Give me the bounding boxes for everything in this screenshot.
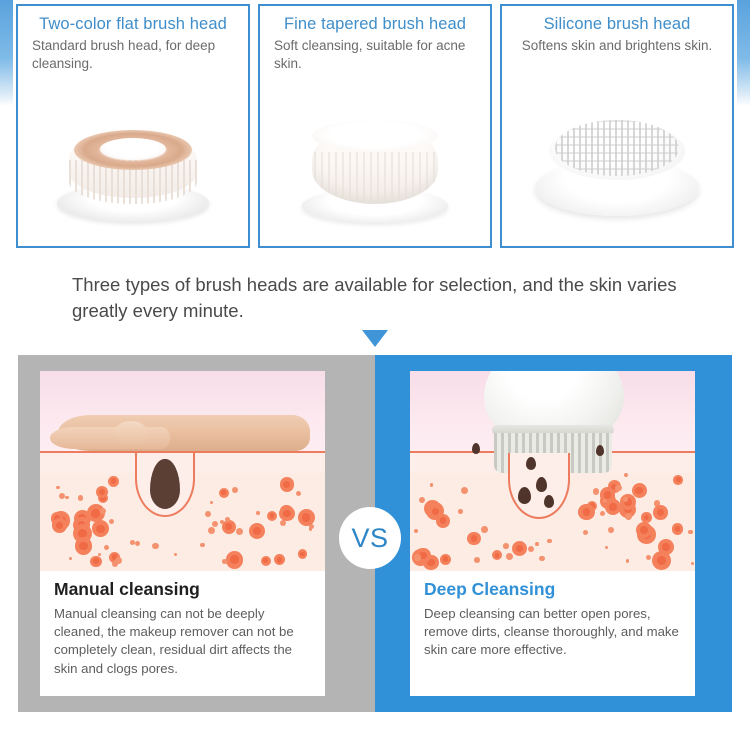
skin-cell — [414, 554, 420, 560]
skin-cell — [174, 553, 177, 556]
skin-cell — [309, 527, 313, 531]
deep-cleansing-body: Deep cleansing can better open pores, re… — [424, 605, 683, 660]
two-color-flat-brush-head-photo — [18, 96, 248, 246]
skin-cell — [506, 553, 513, 560]
skin-cell — [620, 494, 636, 510]
card-title: Fine tapered brush head — [266, 15, 484, 34]
card-title: Two-color flat brush head — [24, 15, 242, 34]
skin-cell — [232, 487, 238, 493]
skin-cell — [632, 483, 647, 498]
skin-cell — [249, 523, 265, 539]
deep-cleansing-card[interactable]: Deep Cleansing Deep cleansing can better… — [410, 371, 695, 696]
vs-badge: VS — [339, 507, 401, 569]
skin-cell — [481, 526, 488, 533]
skin-cell — [296, 491, 301, 496]
skin-cell — [219, 488, 229, 498]
skin-cell — [688, 530, 693, 535]
skin-cell — [208, 527, 215, 534]
skin-cell — [615, 485, 622, 492]
skin-cell — [75, 537, 93, 555]
skin-cell — [461, 487, 468, 494]
skin-cell — [65, 496, 69, 500]
skin-cell — [152, 543, 159, 550]
skin-cell — [626, 559, 629, 562]
skin-cell — [467, 532, 481, 546]
brush-head-card-fine-tapered[interactable]: Fine tapered brush head Soft cleansing, … — [258, 4, 492, 248]
skin-cell — [672, 523, 684, 535]
skin-cell — [636, 522, 653, 539]
skin-cell — [280, 520, 286, 526]
brush-head-options-section: Two-color flat brush head Standard brush… — [0, 0, 750, 252]
skin-cell — [624, 473, 628, 477]
skin-cell — [492, 550, 502, 560]
skin-cell — [578, 504, 595, 521]
skin-cell — [261, 556, 271, 566]
manual-cleansing-body: Manual cleansing can not be deeply clean… — [54, 605, 313, 678]
skin-cell — [503, 543, 509, 549]
skin-cell — [605, 499, 621, 515]
skin-cell — [593, 488, 600, 495]
skin-cell — [52, 518, 67, 533]
skin-cell — [205, 511, 211, 517]
brush-on-skin-illustration — [410, 371, 695, 571]
triangle-down-icon — [362, 330, 388, 347]
skin-cell — [440, 554, 451, 565]
brush-head-card-silicone[interactable]: Silicone brush head Softens skin and bri… — [500, 4, 734, 248]
skin-cell — [298, 509, 315, 526]
silicone-brush-head-photo — [502, 96, 732, 246]
skin-cell — [673, 475, 683, 485]
right-edge-accent-bar — [737, 0, 750, 106]
skin-cell — [56, 486, 59, 489]
skin-cell — [130, 540, 135, 545]
skin-cell — [236, 528, 243, 535]
skin-cell — [210, 501, 213, 504]
skin-cell — [280, 477, 294, 491]
skin-cell — [90, 556, 101, 567]
manual-cleansing-card[interactable]: Manual cleansing Manual cleansing can no… — [40, 371, 325, 696]
skin-cell — [279, 506, 294, 521]
skin-cell — [256, 511, 260, 515]
brush-head-card-two-color-flat[interactable]: Two-color flat brush head Standard brush… — [16, 4, 250, 248]
skin-cell — [414, 529, 418, 533]
skin-cell — [653, 505, 668, 520]
skin-cell — [625, 513, 632, 520]
skin-cell — [112, 561, 118, 567]
card-description: Standard brush head, for deep cleansing. — [32, 37, 238, 73]
deep-cleansing-title: Deep Cleansing — [424, 579, 695, 600]
skin-cell — [458, 509, 463, 514]
skin-cell — [200, 543, 205, 548]
skin-cell — [512, 541, 527, 556]
fine-tapered-brush-head-photo — [260, 96, 490, 246]
skin-cell — [78, 495, 84, 501]
skin-cell — [623, 497, 628, 502]
skin-cell — [135, 541, 140, 546]
skin-cell — [430, 483, 434, 487]
manual-cleansing-title: Manual cleansing — [54, 579, 325, 600]
skin-cell — [92, 520, 109, 537]
skin-cell — [69, 557, 72, 560]
skin-cell — [474, 557, 480, 563]
skin-cell — [691, 562, 694, 565]
skin-cell — [100, 508, 107, 515]
skin-cell — [225, 517, 230, 522]
card-description: Softens skin and brightens skin. — [508, 37, 726, 55]
skin-cell — [547, 539, 552, 544]
skin-cell — [605, 546, 608, 549]
skin-cell — [212, 521, 218, 527]
skin-cell — [274, 554, 285, 565]
skin-cell — [535, 542, 539, 546]
skin-cell — [528, 546, 535, 553]
section-headline: Three types of brush heads are available… — [72, 272, 692, 325]
card-title: Silicone brush head — [508, 15, 726, 34]
skin-cell — [428, 505, 443, 520]
skin-cell — [104, 545, 109, 550]
skin-cell — [583, 530, 588, 535]
skin-cell — [109, 519, 115, 525]
skin-cell — [108, 476, 119, 487]
manual-cleansing-caption: Manual cleansing Manual cleansing can no… — [40, 571, 325, 696]
skin-cell — [539, 556, 545, 562]
card-description: Soft cleansing, suitable for acne skin. — [274, 37, 480, 73]
deep-cleansing-caption: Deep Cleansing Deep cleansing can better… — [410, 571, 695, 696]
skin-cell — [652, 551, 671, 570]
skin-cell — [298, 549, 308, 559]
skin-cell — [222, 559, 227, 564]
skin-cell — [419, 497, 425, 503]
skin-cell — [646, 555, 652, 561]
skin-cell — [608, 527, 614, 533]
skin-cell — [600, 511, 605, 516]
skin-cell — [267, 511, 277, 521]
left-edge-accent-bar — [0, 0, 13, 106]
hand-on-skin-illustration — [40, 371, 325, 571]
skin-cell — [226, 551, 244, 569]
